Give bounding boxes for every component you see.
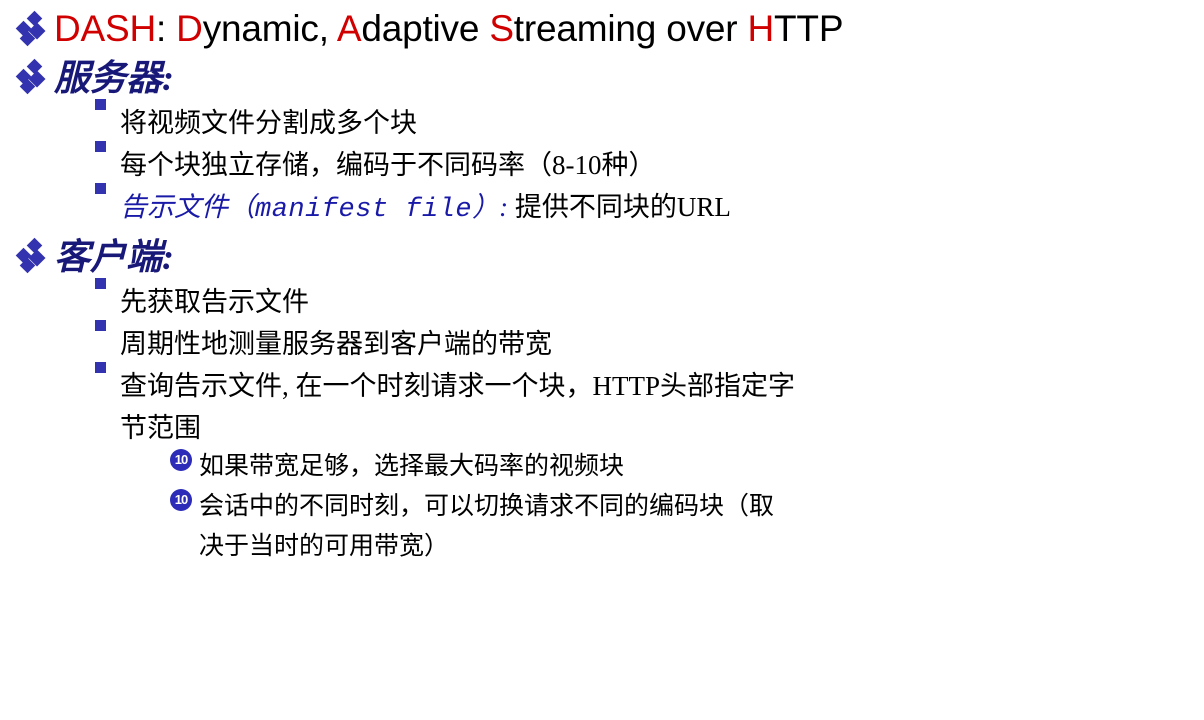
square-bullet-icon [95, 278, 106, 289]
slide-canvas: DASH: Dynamic, Adaptive Streaming over H… [0, 0, 1204, 720]
section-heading-client: 客户端: [54, 233, 1204, 281]
manifest-tail-text: 提供不同块的URL [508, 192, 731, 222]
list-item-wrap-line: 节范围 [0, 409, 1204, 448]
title-seg-dash: DASH [54, 8, 156, 49]
square-bullet-icon [95, 320, 106, 331]
list-item-label: 告示文件（manifest file）: 提供不同块的URL [120, 188, 1204, 230]
list-item-label: 周期性地测量服务器到客户端的带宽 [120, 325, 1204, 364]
title-seg-a: A [337, 8, 361, 49]
list-item-label: 查询告示文件, 在一个时刻请求一个块，HTTP头部指定字 [120, 367, 1204, 406]
title-seg-colon: : [156, 8, 176, 49]
list-item-manifest: 告示文件（manifest file）: 提供不同块的URL [0, 188, 1204, 230]
diamond-cluster-bullet-icon [14, 60, 44, 90]
circled-ten-bullet-icon: 10 [170, 489, 192, 511]
title-seg-ttp: TTP [774, 8, 843, 49]
list-item: 将视频文件分割成多个块 [0, 104, 1204, 143]
manifest-emphasis-cn-tail: ）: [472, 192, 508, 222]
manifest-emphasis-cn-head: 告示文件（ [120, 192, 255, 222]
square-bullet-icon [95, 183, 106, 194]
diamond-cluster-bullet-icon [14, 12, 44, 42]
bullet-row-section-client: 客户端: [0, 233, 1204, 281]
list-item-label: 将视频文件分割成多个块 [120, 104, 1204, 143]
list-item: 每个块独立存储，编码于不同码率（8-10种） [0, 146, 1204, 185]
title-seg-s: S [489, 8, 513, 49]
square-bullet-icon [95, 99, 106, 110]
section-heading-server: 服务器: [54, 54, 1204, 102]
list-item-label: 每个块独立存储，编码于不同码率（8-10种） [120, 146, 1204, 185]
sub-list-item-label: 如果带宽足够，选择最大码率的视频块 [199, 448, 1204, 485]
sub-list-item-wrap-line: 决于当时的可用带宽） [0, 528, 1204, 565]
title-seg-daptive: daptive [361, 8, 489, 49]
title-seg-d: D [176, 8, 203, 49]
title-seg-h: H [748, 8, 775, 49]
title-seg-ynamic: ynamic, [203, 8, 337, 49]
sub-list-item: 10 会话中的不同时刻，可以切换请求不同的编码块（取 [0, 488, 1204, 525]
list-item: 查询告示文件, 在一个时刻请求一个块，HTTP头部指定字 [0, 367, 1204, 406]
page-title: DASH: Dynamic, Adaptive Streaming over H… [54, 6, 1204, 52]
title-seg-treaming-over: treaming over [514, 8, 748, 49]
sub-list-item: 10 如果带宽足够，选择最大码率的视频块 [0, 448, 1204, 485]
manifest-emphasis-mono: manifest file [255, 195, 472, 225]
list-item: 先获取告示文件 [0, 283, 1204, 322]
square-bullet-icon [95, 362, 106, 373]
bullet-row-title: DASH: Dynamic, Adaptive Streaming over H… [0, 6, 1204, 52]
sub-list-item-label: 会话中的不同时刻，可以切换请求不同的编码块（取 [199, 488, 1204, 525]
square-bullet-icon [95, 141, 106, 152]
circled-ten-bullet-icon: 10 [170, 449, 192, 471]
list-item: 周期性地测量服务器到客户端的带宽 [0, 325, 1204, 364]
diamond-cluster-bullet-icon [14, 239, 44, 269]
list-item-label: 先获取告示文件 [120, 283, 1204, 322]
bullet-row-section-server: 服务器: [0, 54, 1204, 102]
